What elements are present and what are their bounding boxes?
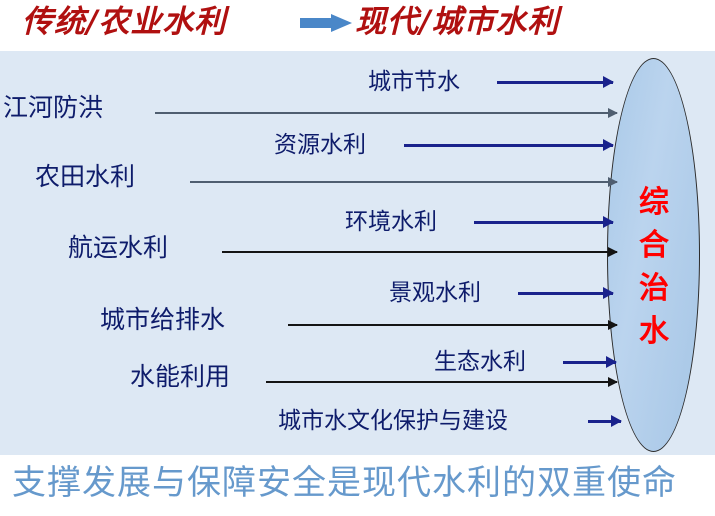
title-left-text: 传统/农业水利: [22, 2, 226, 42]
title-right-text: 现代/城市水利: [355, 2, 559, 42]
flow-label-chengshijipaishui: 城市给排水: [100, 307, 225, 335]
flow-label-ziyuanshuili: 资源水利: [274, 131, 366, 159]
arrow-head: [603, 76, 614, 88]
flow-label-shuinengliyong: 水能利用: [130, 364, 230, 392]
arrow-head: [608, 108, 618, 118]
hub-char-1: 综: [626, 181, 682, 224]
flow-label-hangyunshuili: 航运水利: [68, 235, 168, 263]
footer-bar: 支撑发展与保障安全是现代水利的双重使命: [0, 455, 715, 516]
arrow-head: [608, 320, 618, 330]
arrow-head: [608, 177, 618, 187]
hub-char-3: 治: [626, 267, 682, 310]
hub-char-2: 合: [626, 224, 682, 267]
arrow-line: [474, 221, 613, 224]
arrow-head: [608, 377, 618, 387]
diagram-panel: 综 合 治 水 城市节水 江河防洪 资源水利 农田水利 环境水利 航运水利 景观…: [0, 51, 715, 455]
flow-label-jianghefanghong: 江河防洪: [3, 95, 103, 123]
arrow-line: [222, 251, 617, 253]
flow-label-huanjingshuili: 环境水利: [345, 208, 437, 236]
title-bar: 传统/农业水利 现代/城市水利: [0, 0, 715, 51]
arrow-head: [603, 287, 614, 299]
arrow-line: [497, 81, 613, 84]
flow-label-chengshishuiwenhua: 城市水文化保护与建设: [278, 407, 508, 435]
hub-label: 综 合 治 水: [626, 181, 682, 353]
arrow-head: [603, 139, 614, 151]
arrow-line: [190, 181, 617, 183]
arrow-line: [404, 144, 613, 147]
flow-label-chengshijieshui: 城市节水: [368, 68, 460, 96]
flow-label-nongtianshuili: 农田水利: [35, 164, 135, 192]
arrow-head: [611, 415, 622, 427]
arrow-line: [155, 112, 617, 114]
flow-label-jingguanshuili: 景观水利: [389, 279, 481, 307]
arrow-shaft: [300, 18, 333, 28]
arrow-line: [266, 381, 617, 383]
right-block-arrow-icon: [300, 14, 352, 31]
arrow-head: [331, 14, 352, 32]
hub-char-4: 水: [626, 310, 682, 353]
arrow-line: [288, 324, 617, 326]
arrow-head: [606, 356, 617, 368]
arrow-head: [608, 247, 618, 257]
flow-label-shengtaishuili: 生态水利: [434, 348, 526, 376]
footer-text: 支撑发展与保障安全是现代水利的双重使命: [12, 461, 677, 507]
arrow-head: [603, 216, 614, 228]
arrow-line: [518, 292, 613, 295]
